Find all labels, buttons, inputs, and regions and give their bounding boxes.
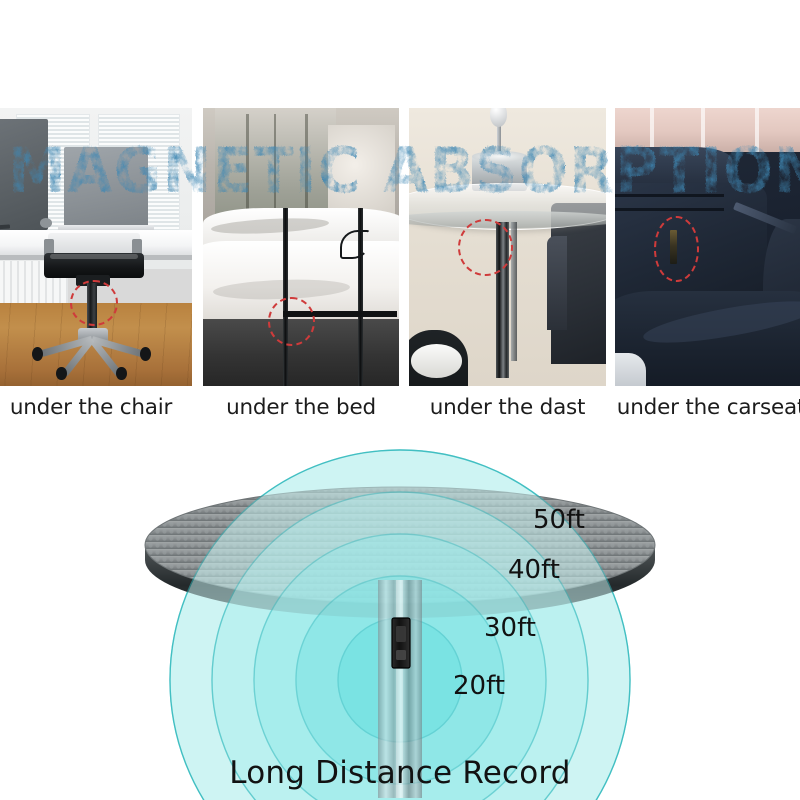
red-dashed-circle-icon [458, 219, 513, 276]
mouse-icon [40, 218, 52, 228]
car-window [615, 108, 800, 152]
photo-panel-under-the-bed [203, 108, 399, 386]
distance-label-30ft: 30ft [484, 613, 536, 643]
seat-seam [615, 208, 724, 211]
seat-seam [615, 194, 724, 197]
photo-panel-under-the-carseat [615, 108, 800, 386]
red-dashed-circle-icon [654, 216, 699, 281]
red-dashed-circle-icon [70, 280, 118, 326]
sofa-armrest [547, 236, 567, 331]
window-mullion [755, 108, 759, 152]
dining-chair-seat [411, 344, 462, 377]
photo-panel-under-the-dast [409, 108, 606, 386]
distance-label-20ft: 20ft [453, 671, 505, 701]
infographic-page: MAGNETIC ABSORPTION under the chair unde… [0, 0, 800, 800]
monitor-icon [0, 119, 48, 230]
red-dashed-circle-icon [268, 297, 315, 345]
chair-backrest [48, 233, 140, 252]
footer-title: Long Distance Record [0, 755, 800, 791]
photo-image-car-seat [615, 108, 800, 386]
caption-under-the-carseat: under the carseat [612, 392, 800, 424]
window-mullion [650, 108, 654, 152]
chair-seat-highlight [50, 254, 138, 260]
distance-label-40ft: 40ft [508, 555, 560, 585]
caption-row: under the chair under the bed under the … [0, 392, 800, 428]
caption-under-the-bed: under the bed [203, 392, 399, 424]
photo-image-office-chair [0, 108, 192, 386]
caption-under-the-dast: under the dast [409, 392, 606, 424]
window-mullion [701, 108, 705, 152]
photo-panel-under-the-chair [0, 108, 192, 386]
photo-image-glass-table [409, 108, 606, 386]
caption-under-the-chair: under the chair [0, 392, 191, 424]
gps-tracker-device-front [392, 618, 410, 668]
photo-strip [0, 108, 800, 388]
long-distance-illustration [0, 430, 800, 800]
illustration-svg [0, 430, 800, 800]
chair-caster [140, 347, 151, 361]
distance-label-50ft: 50ft [533, 505, 585, 535]
photo-image-bed [203, 108, 399, 386]
laptop-icon [64, 147, 148, 228]
chair-caster [32, 347, 43, 361]
